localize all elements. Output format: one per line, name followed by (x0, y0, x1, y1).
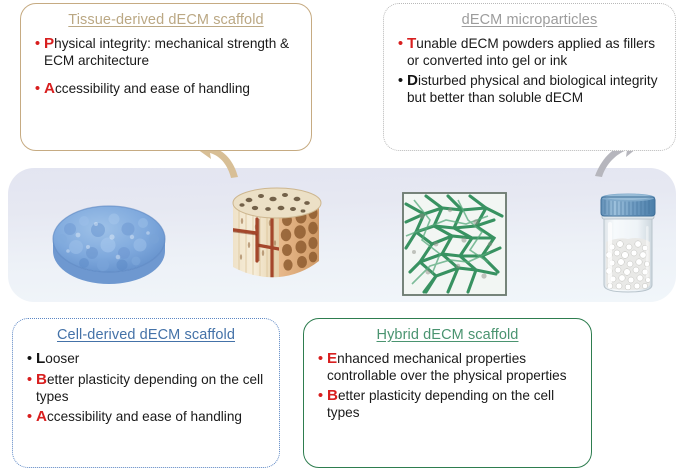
bullet-dot-icon: • (23, 350, 36, 367)
bullet-cap: E (327, 350, 337, 367)
list-item: • Accessibility and ease of handling (23, 408, 269, 426)
bullet-rest: ccessibility and ease of handling (55, 81, 250, 96)
bullet-text: Physical integrity: mechanical strength … (44, 35, 301, 69)
bullet-rest: isturbed physical and biological integri… (407, 73, 658, 105)
bullet-text: Tunable dECM powders applied as fillers … (407, 35, 665, 69)
blue-porous-disc-scaffold-image (48, 197, 170, 285)
box-decm-microparticles: dECM microparticles • Tunable dECM powde… (383, 3, 676, 151)
powder-jar-image (588, 192, 668, 296)
box-cell-derived-scaffold: Cell-derived dECM scaffold • Looser • Be… (12, 318, 280, 468)
bullet-text: Better plasticity depending on the cell … (36, 371, 269, 405)
bullet-rest: ooser (45, 351, 79, 366)
bullet-rest: unable dECM powders applied as fillers o… (407, 36, 655, 68)
bullet-text: Accessibility and ease of handling (44, 80, 301, 98)
box-cell-bullets: • Looser • Better plasticity depending o… (23, 350, 269, 426)
bullet-rest: ccessibility and ease of handling (47, 409, 242, 424)
bullet-dot-icon: • (394, 72, 407, 89)
bullet-text: Accessibility and ease of handling (36, 408, 269, 426)
bullet-dot-icon: • (23, 371, 36, 388)
bullet-cap: A (44, 80, 55, 97)
list-item: • Enhanced mechanical properties control… (314, 350, 581, 384)
box-micro-title: dECM microparticles (394, 12, 665, 28)
bullet-cap: B (36, 371, 47, 388)
list-item: • Disturbed physical and biological inte… (394, 72, 665, 106)
list-item: • Tunable dECM powders applied as filler… (394, 35, 665, 69)
green-mesh-scaffold-image (402, 192, 507, 296)
bullet-dot-icon: • (23, 408, 36, 425)
bullet-cap: B (327, 387, 338, 404)
box-micro-bullets: • Tunable dECM powders applied as filler… (394, 35, 665, 106)
bullet-dot-icon: • (314, 350, 327, 367)
bullet-cap: A (36, 408, 47, 425)
box-hybrid-title: Hybrid dECM scaffold (314, 327, 581, 343)
bullet-text: Disturbed physical and biological integr… (407, 72, 665, 106)
bullet-rest: nhanced mechanical properties controllab… (327, 351, 567, 383)
list-item: • Physical integrity: mechanical strengt… (31, 35, 301, 69)
box-tissue-title: Tissue-derived dECM scaffold (31, 12, 301, 28)
bullet-dot-icon: • (314, 387, 327, 404)
bone-cross-section-image (227, 183, 326, 291)
box-cell-title: Cell-derived dECM scaffold (23, 327, 269, 343)
bullet-rest: etter plasticity depending on the cell t… (36, 372, 263, 404)
bullet-text: Better plasticity depending on the cell … (327, 387, 581, 421)
bullet-rest: etter plasticity depending on the cell t… (327, 388, 554, 420)
list-item: • Better plasticity depending on the cel… (23, 371, 269, 405)
box-tissue-bullets: • Physical integrity: mechanical strengt… (31, 35, 301, 98)
bullet-text: Enhanced mechanical properties controlla… (327, 350, 581, 384)
bullet-cap: T (407, 35, 416, 52)
bullet-cap: D (407, 72, 418, 89)
dECM-scaffold-infographic: Tissue-derived dECM scaffold • Physical … (0, 0, 688, 473)
list-item: • Better plasticity depending on the cel… (314, 387, 581, 421)
box-tissue-derived-scaffold: Tissue-derived dECM scaffold • Physical … (20, 3, 312, 151)
bullet-text: Looser (36, 350, 269, 368)
bullet-rest: hysical integrity: mechanical strength &… (44, 36, 289, 68)
bullet-cap: P (44, 35, 54, 52)
specimen-image-band (8, 168, 676, 302)
box-hybrid-bullets: • Enhanced mechanical properties control… (314, 350, 581, 421)
list-item: • Accessibility and ease of handling (31, 80, 301, 98)
bullet-cap: L (36, 350, 45, 367)
bullet-dot-icon: • (31, 35, 44, 52)
bullet-dot-icon: • (394, 35, 407, 52)
list-item: • Looser (23, 350, 269, 368)
bullet-dot-icon: • (31, 80, 44, 97)
box-hybrid-scaffold: Hybrid dECM scaffold • Enhanced mechanic… (303, 318, 592, 468)
